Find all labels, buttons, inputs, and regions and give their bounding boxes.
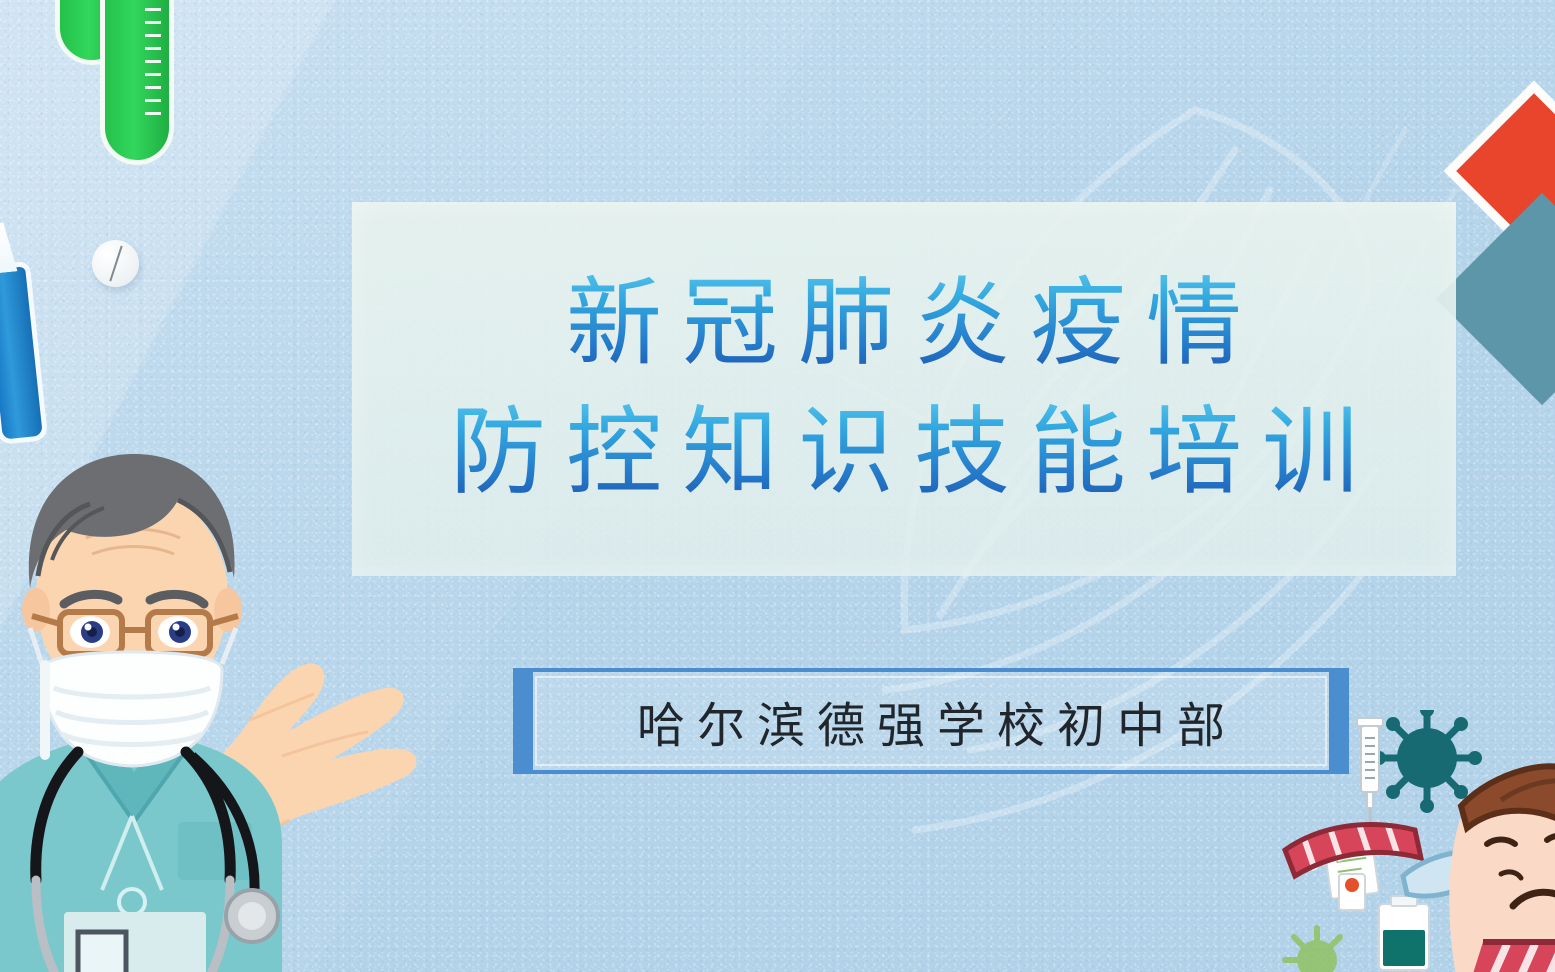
subtitle-box: 哈尔滨德强学校初中部	[513, 668, 1349, 774]
virus-small-icon	[1285, 928, 1340, 972]
title-line-2: 防控知识技能培训	[430, 392, 1378, 515]
pill-icon	[92, 240, 139, 287]
syringe-icon	[1357, 718, 1383, 828]
doctor-head	[22, 454, 242, 766]
medicine-bottle-icon	[1379, 896, 1429, 970]
subtitle-text: 哈尔滨德强学校初中部	[625, 686, 1237, 756]
test-tube-right-icon	[105, 0, 169, 160]
title-slide: 新冠肺炎疫情 防控知识技能培训 哈尔滨德强学校初中部	[0, 0, 1555, 972]
title-block: 新冠肺炎疫情 防控知识技能培训	[352, 202, 1456, 576]
title-line-1: 新冠肺炎疫情	[546, 263, 1262, 386]
